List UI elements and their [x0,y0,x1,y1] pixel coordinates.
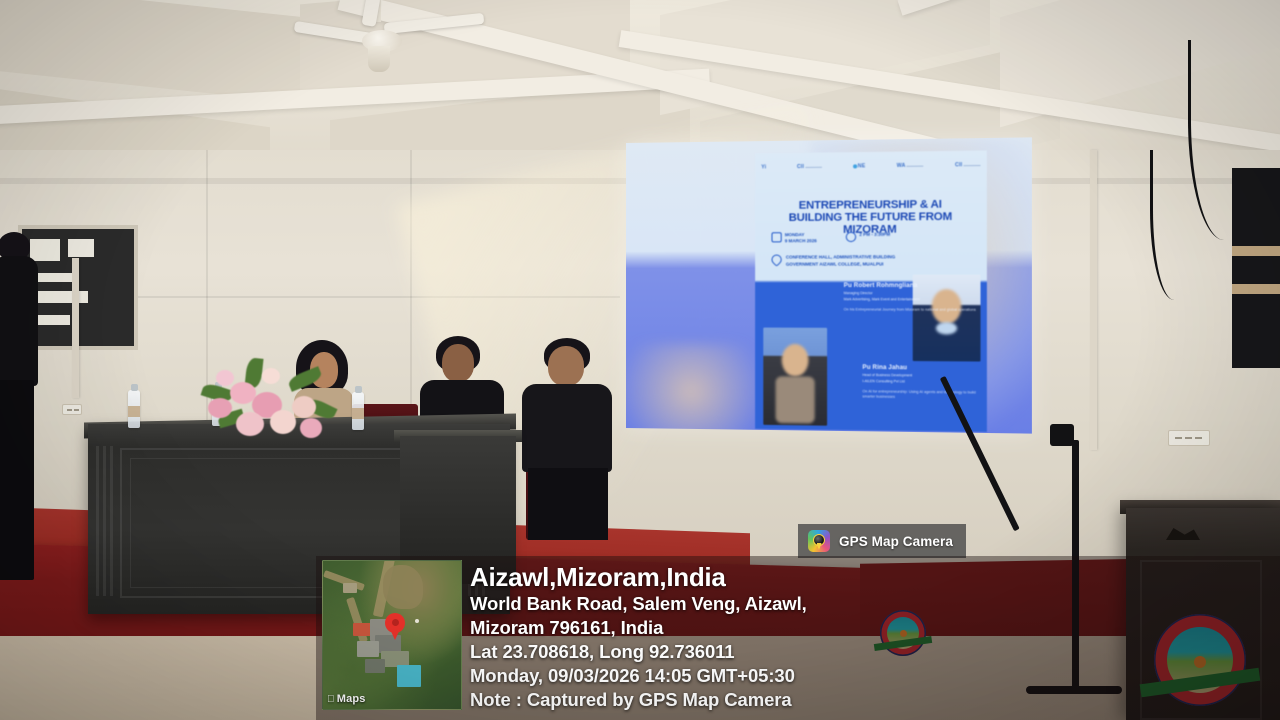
flower-arrangement [196,352,346,444]
slide-logo: CII [797,164,822,170]
speaker-block: Pu Robert Rohmngliana Managing Director … [844,283,979,313]
photo-canvas: Yi CII NE WA CII ENTREPRENEURSHIP & AI B… [0,0,1280,720]
slide-date: MONDAY 9 MARCH 2026 [771,232,816,244]
projection-screen: Yi CII NE WA CII ENTREPRENEURSHIP & AI B… [626,137,1032,433]
speaker-photo [763,328,827,426]
map-provider-watermark:  Maps [327,693,366,705]
slide-date-value: 9 MARCH 2026 [785,238,817,244]
slide-time-value: 2 PM - 3:30PM [859,232,890,238]
ceiling-coffer [0,0,320,105]
slide-logo: CII [955,162,981,168]
slide-time: 2 PM - 3:30PM [846,232,890,244]
gps-location-title: Aizawl,Mizoram,India [470,562,807,592]
gps-text-block: Aizawl,Mizoram,India World Bank Road, Sa… [470,556,807,712]
speaker-role-line2: I-AILEN Consulting Pvt Ltd [862,380,978,386]
slide-venue: CONFERENCE HALL, ADMINISTRATIVE BUILDING… [771,254,976,268]
slide-meta-row: MONDAY 9 MARCH 2026 2 PM - 3:30PM [771,231,976,244]
wall-conduit [1090,150,1097,450]
ceiling-fan-icon [300,12,480,68]
speaker-role-line2: Mark Advertising, Mark Event and Enterta… [844,298,979,303]
speaker-description: On his Entrepreneurial Journey from Mizo… [844,307,979,312]
mic-clamp[interactable] [1050,424,1074,446]
location-pin-icon [769,252,784,266]
gps-map-camera-icon [808,530,830,552]
gps-timestamp: Monday, 09/03/2026 14:05 GMT+05:30 [470,664,807,688]
slide-venue-line2: GOVERNMENT AIZAWL COLLEGE, MUALPUI [786,261,895,268]
clock-icon [846,232,856,242]
gps-address-line2: Mizoram 796161, India [470,616,807,640]
map-thumbnail[interactable]:  Maps [322,560,462,710]
slide-logo: WA [897,163,924,169]
speaker-name: Pu Rina Jahau [862,365,978,372]
gps-address-line1: World Bank Road, Salem Veng, Aizawl, [470,592,807,616]
speaker-role-line1: Managing Director [844,291,979,296]
map-provider-label: Maps [337,693,366,705]
slide-logo: Yi [761,164,766,170]
speaker-block: Pu Rina Jahau Head of Business Developme… [862,365,978,401]
wall-socket[interactable] [1168,430,1210,446]
speaker-name: Pu Robert Rohmngliana [844,283,979,289]
calendar-icon [771,232,781,242]
person-standing-left [0,232,46,632]
slide-logo: NE [853,163,866,169]
podium-handle [1166,528,1200,540]
wall-conduit [72,258,79,398]
person-seated-3 [518,338,614,528]
map-location-pin-icon [385,613,405,640]
wall-socket[interactable] [62,404,82,415]
speaker-description: On AI for entrepreneurship: Using AI age… [862,389,978,400]
gps-map-camera-badge: GPS Map Camera [798,524,966,558]
apple-logo-icon:  [327,694,335,705]
projection-blur-left [626,343,767,434]
speaker-role-line1: Head of Business Development [862,373,978,379]
slide-logo-row: Yi CII NE WA CII [761,157,980,176]
gps-info-overlay:  Maps Aizawl,Mizoram,India World Bank R… [316,556,1280,720]
slide-venue-line1: CONFERENCE HALL, ADMINISTRATIVE BUILDING [786,254,895,261]
gps-note: Note : Captured by GPS Map Camera [470,688,807,712]
gps-coordinates: Lat 23.708618, Long 92.736011 [470,640,807,664]
gps-badge-label: GPS Map Camera [839,534,953,549]
